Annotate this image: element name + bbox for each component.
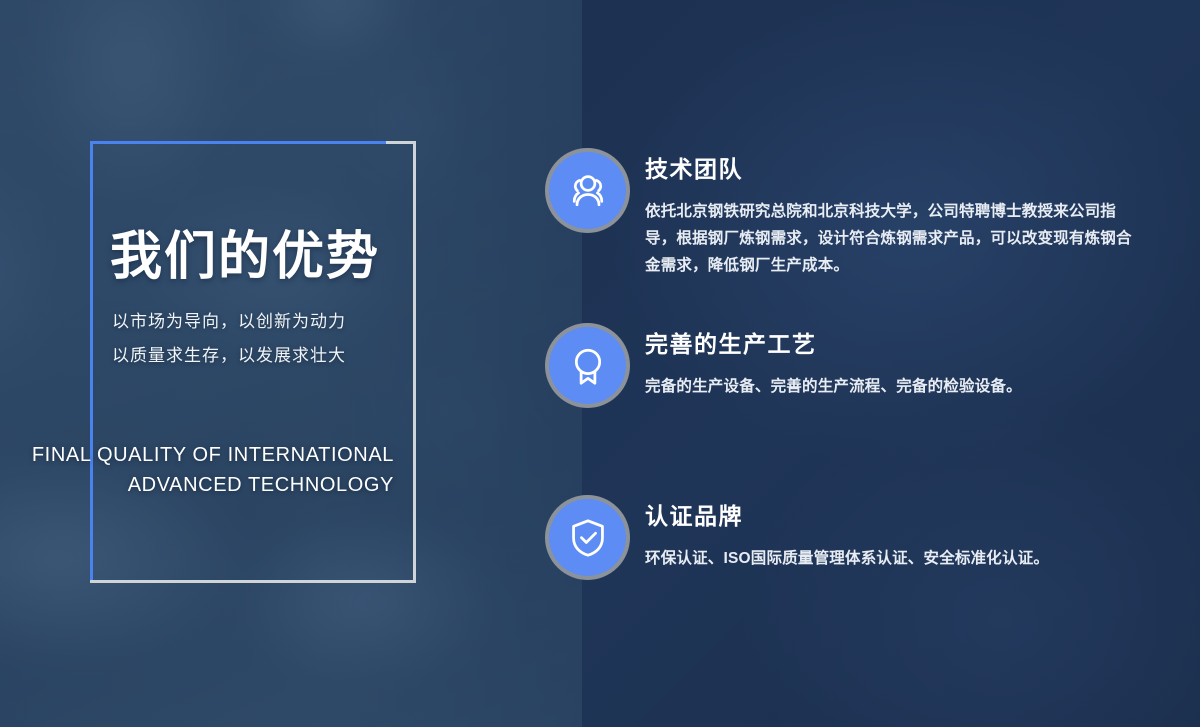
- english-subtitle-line-1: FINAL QUALITY OF INTERNATIONAL: [24, 440, 394, 470]
- english-subtitle-line-2: ADVANCED TECHNOLOGY: [24, 470, 394, 500]
- feature-title: 技术团队: [645, 150, 1135, 184]
- feature-body: 认证品牌 环保认证、ISO国际质量管理体系认证、安全标准化认证。: [645, 497, 1135, 572]
- left-hero-panel: 我们的优势 以市场为导向，以创新为动力 以质量求生存，以发展求壮大 FINAL …: [0, 0, 582, 727]
- feature-body: 完善的生产工艺 完备的生产设备、完善的生产流程、完备的检验设备。: [645, 325, 1135, 400]
- right-features-panel: 技术团队 依托北京钢铁研究总院和北京科技大学，公司特聘博士教授来公司指导，根据钢…: [582, 0, 1200, 727]
- award-ribbon-icon: [545, 323, 630, 408]
- slogan-block: 以市场为导向，以创新为动力 以质量求生存，以发展求壮大: [112, 305, 412, 373]
- feature-description: 依托北京钢铁研究总院和北京科技大学，公司特聘博士教授来公司指导，根据钢厂炼钢需求…: [645, 198, 1135, 279]
- english-subtitle: FINAL QUALITY OF INTERNATIONAL ADVANCED …: [24, 440, 394, 500]
- feature-description: 完备的生产设备、完善的生产流程、完备的检验设备。: [645, 373, 1135, 400]
- page-title: 我们的优势: [110, 228, 410, 286]
- feature-title: 认证品牌: [645, 497, 1135, 531]
- slide-root: 我们的优势 以市场为导向，以创新为动力 以质量求生存，以发展求壮大 FINAL …: [0, 0, 1200, 727]
- shield-check-icon: [545, 495, 630, 580]
- feature-title: 完善的生产工艺: [645, 325, 1135, 359]
- feature-description: 环保认证、ISO国际质量管理体系认证、安全标准化认证。: [645, 545, 1135, 572]
- people-group-icon: [545, 148, 630, 233]
- feature-body: 技术团队 依托北京钢铁研究总院和北京科技大学，公司特聘博士教授来公司指导，根据钢…: [645, 150, 1135, 279]
- slogan-line-1: 以市场为导向，以创新为动力: [112, 305, 412, 339]
- slogan-line-2: 以质量求生存，以发展求壮大: [112, 339, 412, 373]
